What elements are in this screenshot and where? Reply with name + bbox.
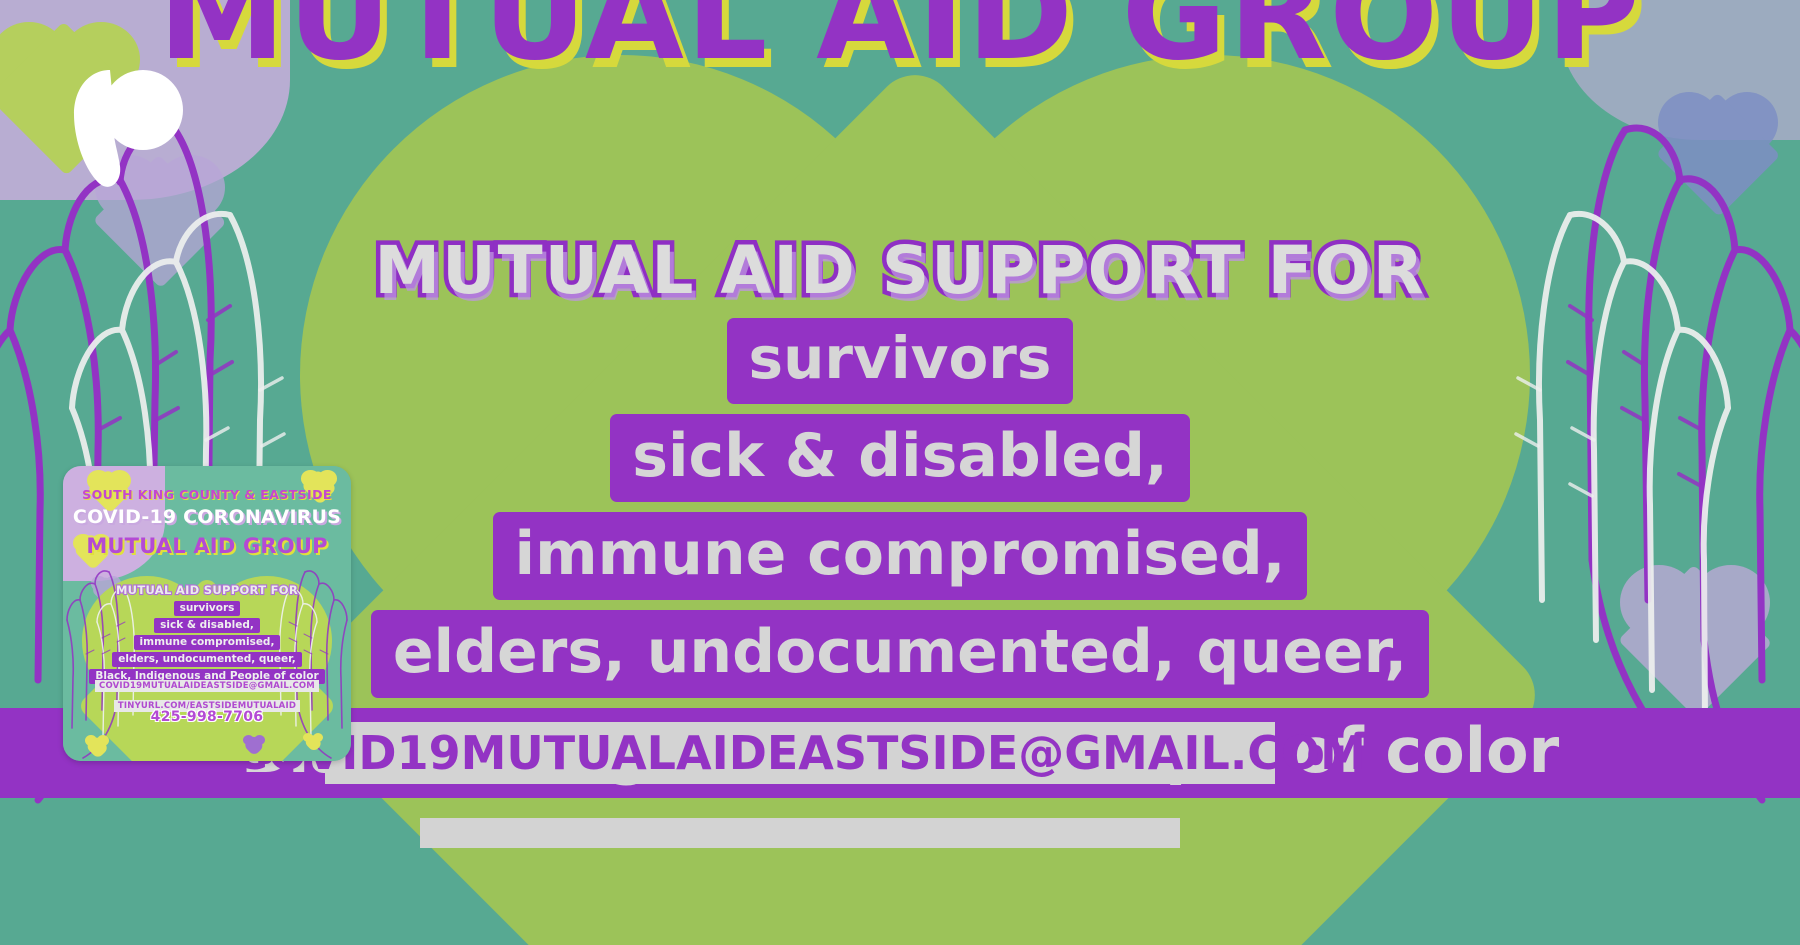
thumbnail-group-band: sick & disabled, [154,618,260,633]
poster-group-band: immune compromised, [493,512,1308,600]
thumbnail-heart-bottom-1 [85,735,109,757]
thumbnail-heart-bottom-3 [303,733,323,751]
heart-decor-blue-right [1658,92,1778,210]
poster-group-band: elders, undocumented, queer, [371,610,1429,698]
poster-canvas: MUTUAL AID GROUP MUTUAL AID SUPPORT FOR … [0,0,1800,945]
thumbnail-group-band: elders, undocumented, queer, [112,652,302,667]
poster-secondary-bar [420,818,1180,848]
thumbnail-text-layer: SOUTH KING COUNTY & EASTSIDE COVID-19 CO… [63,466,351,761]
thumbnail-group-band: immune compromised, [134,635,281,650]
thumbnail-group-band: survivors [174,601,241,616]
poster-group-band: survivors [727,318,1074,404]
poster-thumbnail-card[interactable]: SOUTH KING COUNTY & EASTSIDE COVID-19 CO… [63,466,351,761]
thumbnail-support-heading: MUTUAL AID SUPPORT FOR [63,583,351,597]
thumbnail-group-list: survivors sick & disabled, immune compro… [63,601,351,686]
poster-group-band: sick & disabled, [610,414,1190,502]
poster-email-text: COVID19MUTUALAIDEASTSIDE@GMAIL.COM [234,726,1366,780]
thumbnail-title-line2: MUTUAL AID GROUP [63,534,351,558]
poster-email-bar: COVID19MUTUALAIDEASTSIDE@GMAIL.COM [325,722,1275,784]
thumbnail-title-line1: COVID-19 CORONAVIRUS [63,506,351,528]
poster-support-heading: MUTUAL AID SUPPORT FOR [0,232,1800,309]
thumbnail-email: COVID19MUTUALAIDEASTSIDE@GMAIL.COM [95,680,319,692]
thumbnail-region-label: SOUTH KING COUNTY & EASTSIDE [63,487,351,502]
patreon-logo-icon[interactable] [70,68,185,190]
thumbnail-bottom-heart-row [63,731,351,759]
thumbnail-phone: 425-998-7706 [63,709,351,725]
poster-top-title: MUTUAL AID GROUP [0,0,1800,89]
thumbnail-heart-bottom-2 [243,735,265,755]
